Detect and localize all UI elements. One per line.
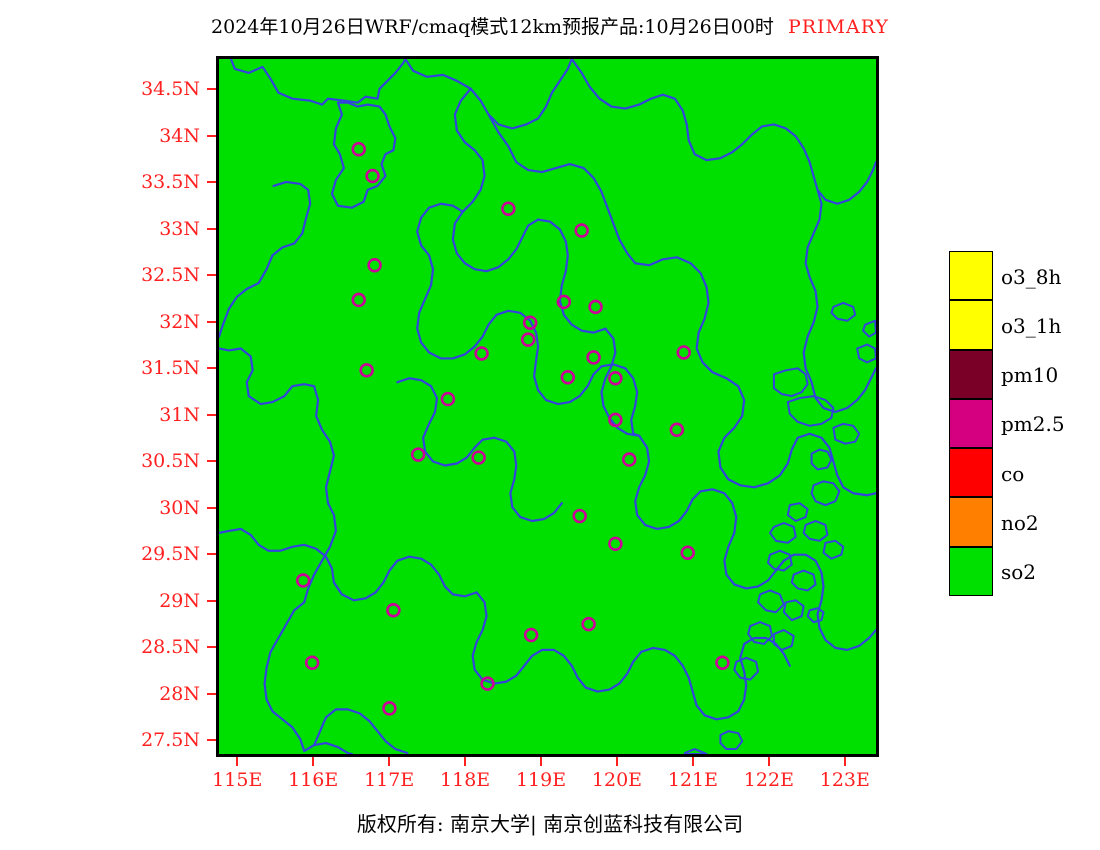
y-axis-label: 27.5N bbox=[126, 729, 200, 751]
x-axis-tick bbox=[464, 757, 466, 766]
legend-item-co[interactable]: co bbox=[949, 448, 993, 497]
x-axis-label: 123E bbox=[820, 769, 870, 791]
y-axis-label: 28N bbox=[126, 683, 200, 705]
title-main-text: 2024年10月26日WRF/cmaq模式12km预报产品:10月26日00时 bbox=[211, 16, 774, 38]
legend-label-pm10: pm10 bbox=[1001, 363, 1058, 387]
y-axis-tick bbox=[207, 693, 216, 695]
legend-item-pm10[interactable]: pm10 bbox=[949, 350, 993, 399]
y-axis-label: 34.5N bbox=[126, 78, 200, 100]
legend: o3_8ho3_1hpm10pm2.5cono2so2 bbox=[949, 251, 993, 596]
station-markers bbox=[297, 143, 728, 714]
legend-item-no2[interactable]: no2 bbox=[949, 497, 993, 546]
legend-label-co: co bbox=[1001, 462, 1024, 486]
y-axis-tick bbox=[207, 600, 216, 602]
page-title: 2024年10月26日WRF/cmaq模式12km预报产品:10月26日00时P… bbox=[0, 12, 1100, 39]
y-axis-label: 32N bbox=[126, 311, 200, 333]
legend-label-no2: no2 bbox=[1001, 511, 1039, 535]
y-axis-tick bbox=[207, 460, 216, 462]
y-axis-label: 31.5N bbox=[126, 357, 200, 379]
legend-label-pm2-5: pm2.5 bbox=[1001, 413, 1065, 437]
y-axis-tick bbox=[207, 367, 216, 369]
legend-swatch-pm2-5 bbox=[949, 399, 993, 448]
province-boundaries bbox=[219, 59, 876, 754]
y-axis-label: 29.5N bbox=[126, 543, 200, 565]
y-axis-label: 28.5N bbox=[126, 636, 200, 658]
y-axis-tick bbox=[207, 646, 216, 648]
x-axis-label: 120E bbox=[592, 769, 642, 791]
legend-swatch-o3-8h bbox=[949, 251, 993, 300]
legend-item-so2[interactable]: so2 bbox=[949, 547, 993, 596]
y-axis-tick bbox=[207, 228, 216, 230]
legend-swatch-co bbox=[949, 448, 993, 497]
legend-label-so2: so2 bbox=[1001, 561, 1036, 585]
y-axis-tick bbox=[207, 88, 216, 90]
x-axis-tick bbox=[616, 757, 618, 766]
title-primary-text: PRIMARY bbox=[788, 16, 889, 38]
y-axis-tick bbox=[207, 414, 216, 416]
x-axis-tick bbox=[540, 757, 542, 766]
y-axis-label: 30N bbox=[126, 497, 200, 519]
x-axis-tick bbox=[692, 757, 694, 766]
legend-swatch-pm10 bbox=[949, 350, 993, 399]
x-axis-tick bbox=[312, 757, 314, 766]
legend-item-o3-1h[interactable]: o3_1h bbox=[949, 300, 993, 349]
y-axis-tick bbox=[207, 181, 216, 183]
x-axis-label: 116E bbox=[288, 769, 338, 791]
y-axis-tick bbox=[207, 553, 216, 555]
x-axis-tick bbox=[768, 757, 770, 766]
y-axis-tick bbox=[207, 274, 216, 276]
y-axis-tick bbox=[207, 321, 216, 323]
legend-label-o3-8h: o3_8h bbox=[1001, 265, 1061, 289]
y-axis-tick bbox=[207, 739, 216, 741]
y-axis-label: 33.5N bbox=[126, 171, 200, 193]
x-axis-label: 117E bbox=[364, 769, 414, 791]
x-axis-tick bbox=[388, 757, 390, 766]
y-axis-label: 29N bbox=[126, 590, 200, 612]
x-axis-label: 119E bbox=[516, 769, 566, 791]
map-geometry bbox=[219, 59, 876, 754]
y-axis-label: 32.5N bbox=[126, 264, 200, 286]
legend-item-pm2-5[interactable]: pm2.5 bbox=[949, 399, 993, 448]
legend-item-o3-8h[interactable]: o3_8h bbox=[949, 251, 993, 300]
x-axis-tick bbox=[236, 757, 238, 766]
y-axis-label: 34N bbox=[126, 125, 200, 147]
coastline-islands bbox=[685, 303, 876, 754]
legend-swatch-so2 bbox=[949, 547, 993, 596]
legend-swatch-o3-1h bbox=[949, 300, 993, 349]
y-axis-label: 33N bbox=[126, 218, 200, 240]
legend-swatch-no2 bbox=[949, 497, 993, 546]
legend-label-o3-1h: o3_1h bbox=[1001, 314, 1061, 338]
x-axis-tick bbox=[844, 757, 846, 766]
x-axis-label: 121E bbox=[668, 769, 718, 791]
x-axis-label: 122E bbox=[744, 769, 794, 791]
x-axis-label: 115E bbox=[212, 769, 262, 791]
footer-copyright: 版权所有: 南京大学| 南京创蓝科技有限公司 bbox=[0, 808, 1100, 837]
y-axis-label: 30.5N bbox=[126, 450, 200, 472]
y-axis-label: 31N bbox=[126, 404, 200, 426]
y-axis-tick bbox=[207, 507, 216, 509]
forecast-map[interactable] bbox=[216, 56, 879, 757]
x-axis-label: 118E bbox=[440, 769, 490, 791]
y-axis-tick bbox=[207, 135, 216, 137]
